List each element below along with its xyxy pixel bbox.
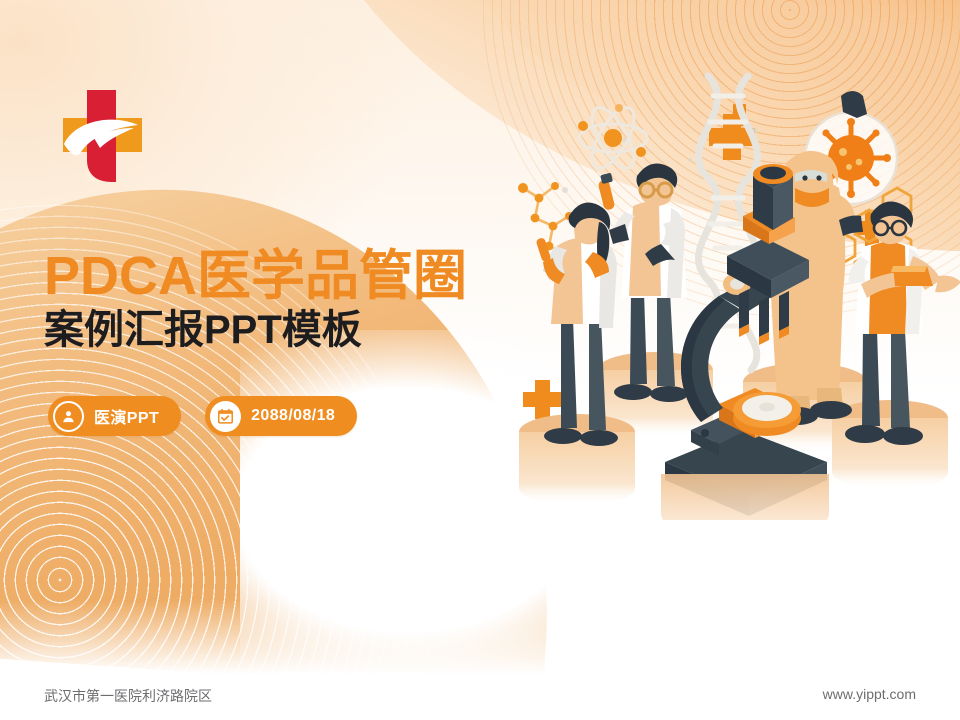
author-badge[interactable]: 医演PPT: [48, 396, 181, 436]
person-icon: [53, 401, 84, 432]
page-subtitle: 案例汇报PPT模板: [44, 308, 564, 353]
presentation-slide: PDCA医学品管圈 案例汇报PPT模板 医演PPT: [0, 0, 960, 720]
title-block: PDCA医学品管圈 案例汇报PPT模板: [44, 248, 564, 353]
footer-organization: 武汉市第一医院利济路院区: [44, 686, 212, 706]
hospital-logo: [50, 82, 152, 182]
footer-website[interactable]: www.yippt.com: [823, 686, 916, 702]
date-badge[interactable]: 2088/08/18: [205, 396, 357, 436]
meta-badges: 医演PPT 2088/08/18: [48, 396, 357, 436]
date-label: 2088/08/18: [251, 407, 335, 425]
calendar-check-icon: [210, 401, 241, 432]
molecule-atom-icon: [578, 102, 647, 175]
medical-team-illustration: [505, 70, 960, 520]
slide-footer: 武汉市第一医院利济路院区 www.yippt.com: [0, 678, 960, 720]
author-label: 医演PPT: [94, 404, 159, 428]
page-title: PDCA医学品管圈: [44, 248, 564, 304]
